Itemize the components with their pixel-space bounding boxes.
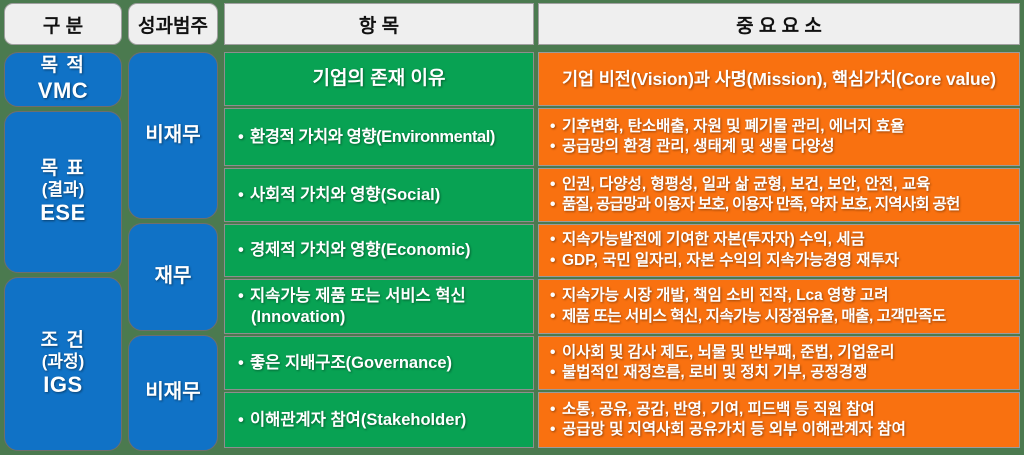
item-row-2: 사회적 가치와 영향(Social): [224, 168, 534, 222]
item-row-6-label: 이해관계자 참여(Stakeholder): [239, 410, 533, 431]
key-elements-row-1-item-1: 공급망의 환경 관리, 생태계 및 생물 다양성: [551, 137, 1019, 157]
key-elements-row-6: 소통, 공유, 공감, 반영, 기여, 피드백 등 직원 참여 공급망 및 지역…: [538, 392, 1020, 448]
key-elements-row-2-item-0: 인권, 다양성, 형평성, 일과 삶 균형, 보건, 보안, 안전, 교육: [551, 175, 1019, 195]
category-ese-line2: (결과): [5, 180, 121, 200]
header-col-performance-category: 성과범주: [128, 3, 218, 45]
header-col-key-elements-label: 중 요 요 소: [736, 11, 822, 38]
key-elements-row-4-item-0: 지속가능 시장 개발, 책임 소비 진작, Lca 영향 고려: [551, 286, 1019, 306]
key-elements-row-6-item-0: 소통, 공유, 공감, 반영, 기여, 피드백 등 직원 참여: [551, 400, 1019, 420]
key-elements-row-5-item-0: 이사회 및 감사 제도, 뇌물 및 반부패, 준법, 기업윤리: [551, 343, 1019, 363]
category-igs-line2: (과정): [5, 352, 121, 372]
item-row-0-label: 기업의 존재 이유: [313, 67, 446, 91]
performance-type-nonfinancial-2-label: 비재무: [145, 381, 200, 405]
header-col-division-label: 구 분: [43, 11, 83, 38]
item-row-3-label: 경제적 가치와 영향(Economic): [239, 240, 533, 261]
key-elements-row-2-item-1: 품질, 공급망과 이용자 보호, 이용자 만족, 약자 보호, 지역사회 공헌: [551, 195, 1019, 215]
key-elements-row-3-item-0: 지속가능발전에 기여한 자본(투자자) 수익, 세금: [551, 230, 1019, 250]
key-elements-row-6-item-1: 공급망 및 지역사회 공유가치 등 외부 이해관계자 참여: [551, 420, 1019, 440]
key-elements-row-0: 기업 비전(Vision)과 사명(Mission), 핵심가치(Core va…: [538, 52, 1020, 106]
category-box-igs: 조 건 (과정) IGS: [4, 277, 122, 451]
header-col-item-label: 항 목: [359, 11, 399, 38]
item-row-4: 지속가능 제품 또는 서비스 혁신 (Innovation): [224, 279, 534, 334]
category-igs-line1: 조 건: [5, 330, 121, 352]
key-elements-row-3-item-1: GDP, 국민 일자리, 자본 수익의 지속가능경영 재투자: [551, 251, 1019, 271]
performance-type-nonfinancial-1-label: 비재무: [145, 124, 200, 148]
category-box-ese: 목 표 (결과) ESE: [4, 111, 122, 273]
item-row-4-label-line2: (Innovation): [239, 307, 533, 328]
performance-type-financial: 재무: [128, 223, 218, 331]
key-elements-row-4-item-1: 제품 또는 서비스 혁신, 지속가능 시장점유율, 매출, 고객만족도: [551, 307, 1019, 327]
category-igs-line3: IGS: [5, 372, 121, 398]
item-row-6: 이해관계자 참여(Stakeholder): [224, 392, 534, 448]
header-col-performance-category-label: 성과범주: [138, 11, 208, 38]
key-elements-row-0-item-0: 기업 비전(Vision)과 사명(Mission), 핵심가치(Core va…: [562, 68, 996, 91]
category-ese-line1: 목 표: [5, 158, 121, 180]
item-row-3: 경제적 가치와 영향(Economic): [224, 224, 534, 277]
key-elements-row-4: 지속가능 시장 개발, 책임 소비 진작, Lca 영향 고려 제품 또는 서비…: [538, 279, 1020, 334]
key-elements-row-1: 기후변화, 탄소배출, 자원 및 폐기물 관리, 에너지 효율 공급망의 환경 …: [538, 108, 1020, 166]
category-box-vmc: 목 적 VMC: [4, 52, 122, 107]
performance-type-nonfinancial-2: 비재무: [128, 335, 218, 451]
key-elements-row-2: 인권, 다양성, 형평성, 일과 삶 균형, 보건, 보안, 안전, 교육 품질…: [538, 168, 1020, 222]
esg-framework-table: 구 분 성과범주 항 목 중 요 요 소 목 적 VMC 목 표 (결과) ES…: [0, 0, 1024, 455]
key-elements-row-3: 지속가능발전에 기여한 자본(투자자) 수익, 세금 GDP, 국민 일자리, …: [538, 224, 1020, 277]
header-col-division: 구 분: [4, 3, 122, 45]
category-ese-line3: ESE: [5, 200, 121, 226]
key-elements-row-5-item-1: 불법적인 재정흐름, 로비 및 정치 기부, 공정경쟁: [551, 363, 1019, 383]
item-row-0: 기업의 존재 이유: [224, 52, 534, 106]
item-row-1: 환경적 가치와 영향(Environmental): [224, 108, 534, 166]
item-row-5-label: 좋은 지배구조(Governance): [239, 353, 533, 374]
header-col-item: 항 목: [224, 3, 534, 45]
performance-type-nonfinancial-1: 비재무: [128, 52, 218, 219]
performance-type-financial-label: 재무: [155, 265, 192, 289]
header-col-key-elements: 중 요 요 소: [538, 3, 1020, 45]
key-elements-row-1-item-0: 기후변화, 탄소배출, 자원 및 폐기물 관리, 에너지 효율: [551, 117, 1019, 137]
item-row-1-label: 환경적 가치와 영향(Environmental): [239, 127, 533, 148]
item-row-4-label: 지속가능 제품 또는 서비스 혁신: [239, 286, 533, 307]
item-row-5: 좋은 지배구조(Governance): [224, 336, 534, 390]
category-vmc-line1: 목 적: [5, 55, 121, 77]
key-elements-row-5: 이사회 및 감사 제도, 뇌물 및 반부패, 준법, 기업윤리 불법적인 재정흐…: [538, 336, 1020, 390]
item-row-2-label: 사회적 가치와 영향(Social): [239, 185, 533, 206]
category-vmc-line3: VMC: [5, 78, 121, 104]
